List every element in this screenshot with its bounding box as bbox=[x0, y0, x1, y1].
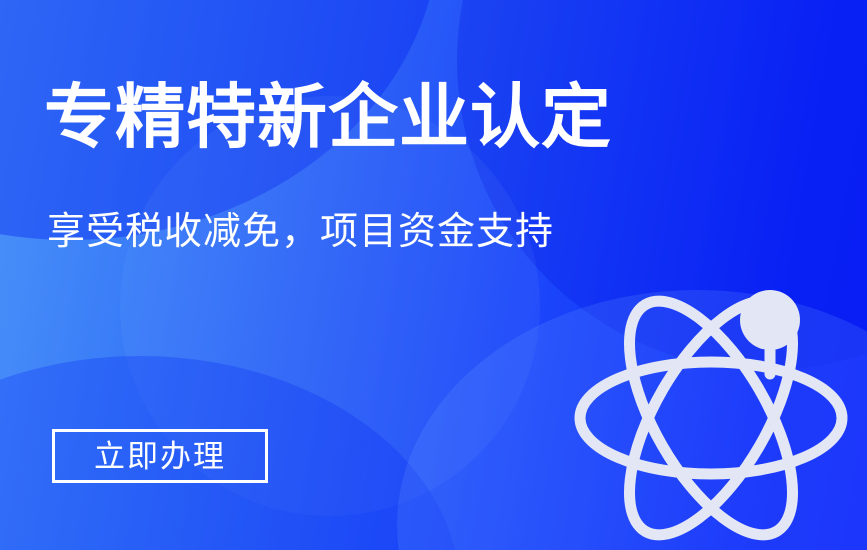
promo-banner: 专精特新企业认定 享受税收减免，项目资金支持 立即办理 bbox=[0, 0, 867, 550]
banner-subtitle: 享受税收减免，项目资金支持 bbox=[47, 211, 554, 255]
apply-now-button[interactable]: 立即办理 bbox=[52, 429, 268, 483]
page-title: 专精特新企业认定 bbox=[44, 82, 612, 152]
atom-electron-icon bbox=[740, 290, 800, 350]
atom-icon bbox=[568, 278, 858, 550]
